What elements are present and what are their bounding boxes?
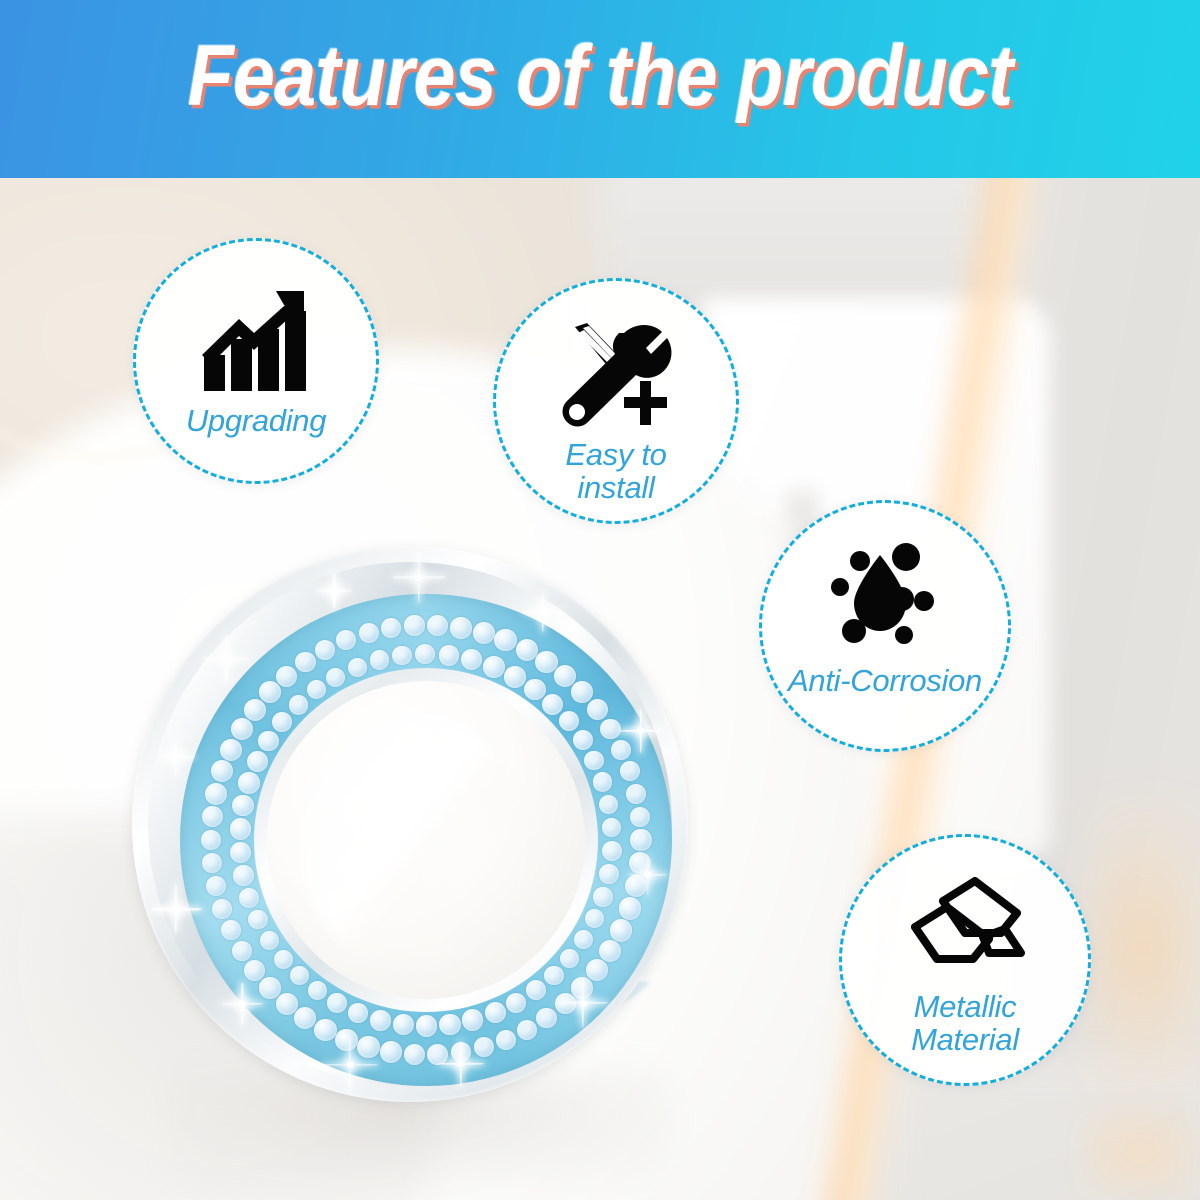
feature-circle-upgrading[interactable]: Upgrading xyxy=(133,238,379,484)
rhinestone xyxy=(248,910,268,930)
rhinestone xyxy=(272,712,292,732)
rhinestone xyxy=(559,711,580,732)
rhinestone xyxy=(381,618,401,638)
rhinestone xyxy=(370,1010,391,1031)
rhinestone xyxy=(571,681,593,703)
sparkle-core xyxy=(331,588,338,595)
rhinestone xyxy=(230,842,251,863)
rhinestone xyxy=(348,658,367,677)
rhinestone xyxy=(602,841,622,861)
rhinestone xyxy=(599,795,618,814)
rhinestone xyxy=(370,650,389,669)
rhinestone xyxy=(450,617,472,639)
rhinestone xyxy=(211,760,233,782)
rhinestone xyxy=(290,966,309,985)
rhinestone xyxy=(357,1036,379,1058)
rhinestone xyxy=(393,1014,414,1035)
feature-label-metallic-material: Metallic Material xyxy=(911,991,1019,1057)
rhinestone xyxy=(380,1041,402,1063)
rhinestone xyxy=(231,718,254,741)
rhinestone xyxy=(542,694,563,715)
rhinestone xyxy=(220,739,243,762)
rhinestone xyxy=(336,630,356,650)
rhinestone xyxy=(308,981,327,1000)
rhinestone xyxy=(504,666,526,688)
rhinestone xyxy=(439,1014,461,1036)
rhinestone xyxy=(201,830,222,851)
rhinestone xyxy=(239,888,259,908)
rhinestone xyxy=(348,1003,368,1023)
rhinestone xyxy=(258,731,279,752)
rhinestone xyxy=(587,699,608,720)
rhinestone xyxy=(206,876,226,896)
rhinestone xyxy=(626,784,646,804)
rhinestone xyxy=(221,920,241,940)
background-warm-spot xyxy=(1080,1108,1200,1198)
rhinestone xyxy=(359,623,379,643)
rhinestone xyxy=(259,977,280,998)
rhinestone xyxy=(599,940,621,962)
rhinestone xyxy=(276,993,298,1015)
rhinestone xyxy=(610,919,633,942)
rhinestone xyxy=(230,818,251,839)
rhinestone xyxy=(619,897,641,919)
rhinestone xyxy=(574,930,593,949)
rhinestone xyxy=(602,818,621,837)
bar-chart-growth-arrow-icon xyxy=(198,289,314,393)
rhinestone xyxy=(326,668,345,687)
rhinestone xyxy=(571,977,593,999)
rhinestone xyxy=(485,1002,506,1023)
rhinestone xyxy=(276,666,297,687)
rhinestone xyxy=(506,993,527,1014)
sparkle-core xyxy=(173,906,180,913)
rhinestone xyxy=(494,629,516,651)
rhinestone xyxy=(315,640,335,660)
rhinestone xyxy=(202,853,222,873)
feature-label-easy-to-install: Easy to install xyxy=(565,439,666,505)
feature-circle-metallic-material[interactable]: Metallic Material xyxy=(839,834,1091,1086)
rhinestone xyxy=(599,864,619,884)
water-droplet-rust-dots-icon xyxy=(828,543,942,651)
rhinestone xyxy=(335,1029,358,1052)
main-stage: Upgrading xyxy=(0,178,1200,1200)
rhinestone xyxy=(294,1007,316,1029)
feature-circle-anti-corrosion[interactable]: Anti-Corrosion xyxy=(759,500,1011,752)
rhinestone xyxy=(462,1009,483,1030)
rhinestone xyxy=(232,795,254,817)
background-light-glow xyxy=(1090,798,1200,1098)
sparkle-core xyxy=(415,574,422,581)
rhinestone xyxy=(611,740,631,760)
page-title: Features of the product xyxy=(72,30,1128,123)
rhinestone xyxy=(307,680,326,699)
rhinestone xyxy=(289,695,309,715)
rhinestone xyxy=(404,615,425,636)
rhinestone xyxy=(555,993,576,1014)
rhinestone xyxy=(573,730,593,750)
rhinestone xyxy=(205,783,227,805)
rhinestone xyxy=(517,1020,537,1040)
sparkle-core xyxy=(347,1061,354,1068)
rhinestone xyxy=(212,899,232,919)
rhinestone xyxy=(524,679,545,700)
rhinestone xyxy=(404,1044,425,1065)
feature-label-upgrading: Upgrading xyxy=(186,405,326,438)
rhinestone xyxy=(295,652,316,673)
rhinestone xyxy=(327,993,347,1013)
rhinestone xyxy=(247,751,268,772)
ring-chrome-bevel xyxy=(148,562,672,1086)
ring-face-sheen xyxy=(298,712,528,972)
rhinestone xyxy=(244,960,265,981)
rhinestone xyxy=(593,887,612,906)
rhinestone xyxy=(630,807,650,827)
rhinestone xyxy=(244,699,266,721)
rhinestone xyxy=(586,959,608,981)
rhinestone xyxy=(260,931,279,950)
wrench-screwdriver-plus-icon xyxy=(558,321,674,429)
rhinestone xyxy=(461,649,482,670)
feature-label-anti-corrosion: Anti-Corrosion xyxy=(788,665,982,698)
rhinestone xyxy=(526,980,546,1000)
rhinestone xyxy=(415,644,435,664)
rhinestone xyxy=(620,761,640,781)
rhinestone xyxy=(483,656,504,677)
sparkle-core xyxy=(539,609,546,616)
rhinestone xyxy=(536,1008,557,1029)
rhinestone xyxy=(238,772,259,793)
rhinestone xyxy=(259,681,281,703)
rhinestone xyxy=(427,615,448,636)
rhinestone xyxy=(593,772,612,791)
rhinestone xyxy=(233,865,254,886)
sparkle-core xyxy=(580,1000,587,1007)
rhinestone xyxy=(314,1019,337,1042)
rhinestone xyxy=(439,645,460,666)
rhinestone xyxy=(202,806,223,827)
rhinestone xyxy=(474,1037,494,1057)
product-crystal-ring xyxy=(132,546,704,1118)
rhinestone xyxy=(584,751,604,771)
product-feature-infographic: Features of the product xyxy=(0,0,1200,1200)
header-banner: Features of the product xyxy=(0,0,1200,178)
rhinestone xyxy=(274,950,293,969)
rhinestone xyxy=(392,646,412,666)
rhinestone xyxy=(600,719,621,740)
rhinestone xyxy=(473,622,495,644)
rhinestone xyxy=(560,949,579,968)
rhinestone xyxy=(232,941,252,961)
rhinestone xyxy=(496,1030,516,1050)
rhinestone xyxy=(625,875,647,897)
rhinestone xyxy=(416,1015,437,1036)
metal-ingot-bars-icon xyxy=(905,875,1025,979)
rhinestone xyxy=(630,829,651,850)
feature-circle-easy-to-install[interactable]: Easy to install xyxy=(493,278,739,524)
rhinestone xyxy=(427,1044,448,1065)
rhinestone xyxy=(544,966,564,986)
rhinestone xyxy=(585,909,604,928)
ring-outer-chrome xyxy=(132,546,688,1102)
